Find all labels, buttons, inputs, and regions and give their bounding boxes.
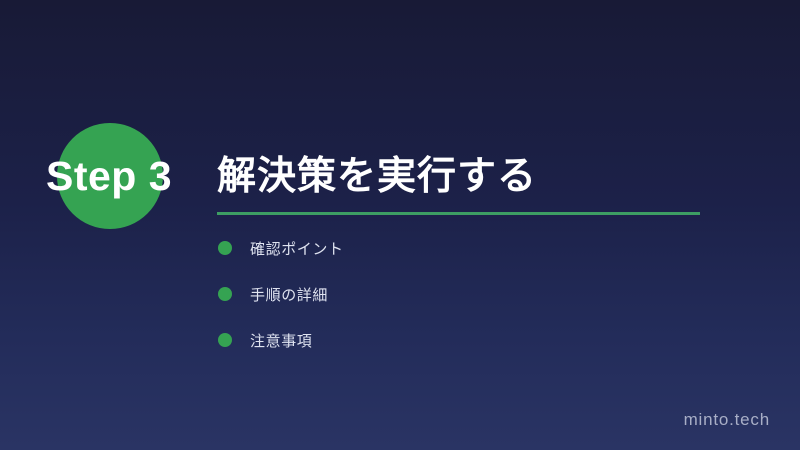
bullet-dot-icon [218, 241, 232, 255]
list-item: 注意事項 [218, 326, 698, 354]
bullet-label: 確認ポイント [250, 238, 344, 259]
presentation-slide: Step 3 解決策を実行する 確認ポイント 手順の詳細 注意事項 minto.… [0, 0, 800, 450]
bullet-label: 注意事項 [250, 330, 312, 351]
bullet-dot-icon [218, 333, 232, 347]
bullet-list: 確認ポイント 手順の詳細 注意事項 [218, 234, 698, 372]
step-badge-label: Step 3 [46, 152, 216, 200]
slide-title: 解決策を実行する [217, 145, 537, 201]
bullet-dot-icon [218, 287, 232, 301]
title-divider [217, 212, 700, 215]
list-item: 手順の詳細 [218, 280, 698, 308]
list-item: 確認ポイント [218, 234, 698, 262]
footer-brand: minto.tech [684, 410, 770, 430]
bullet-label: 手順の詳細 [250, 284, 328, 305]
